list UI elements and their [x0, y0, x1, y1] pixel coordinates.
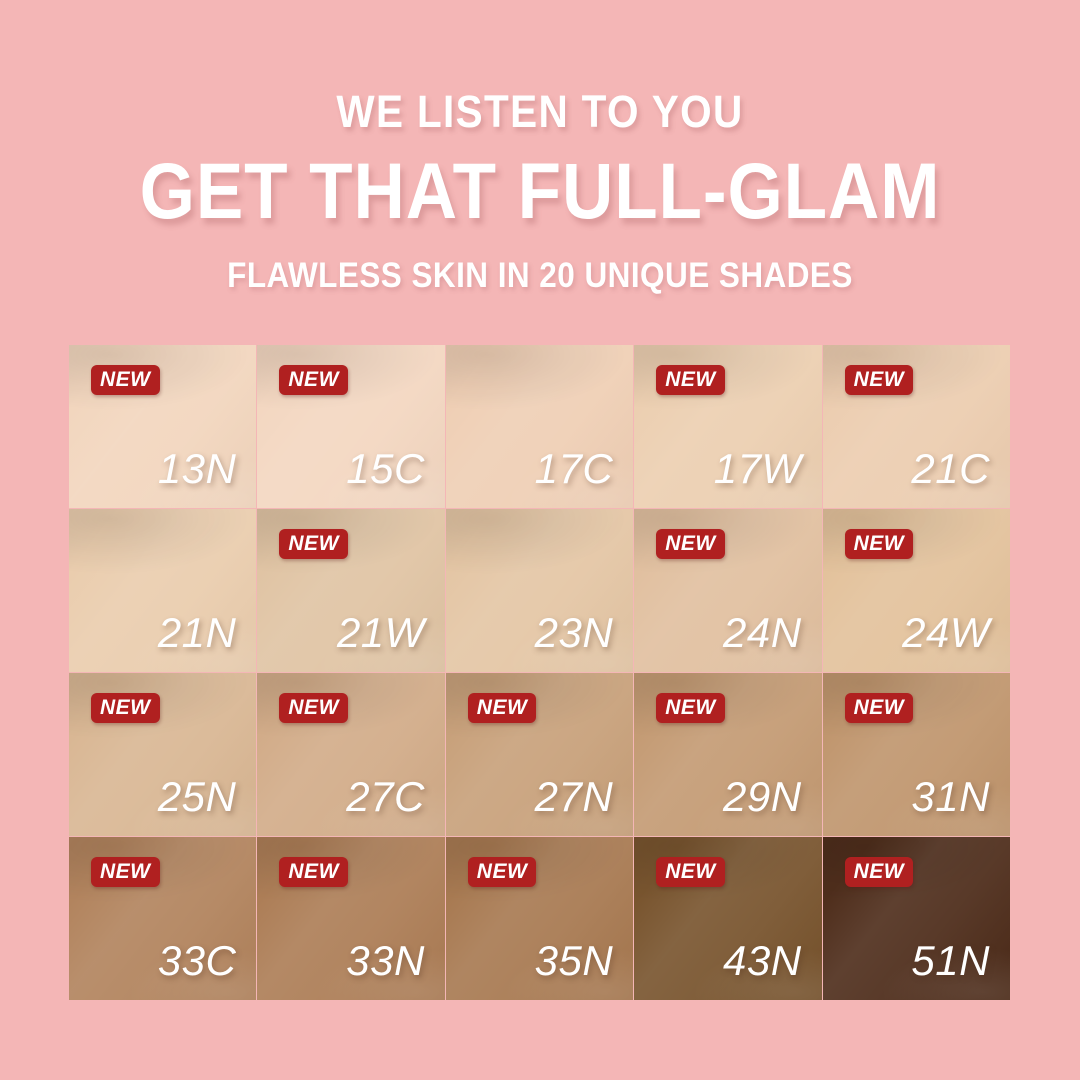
shade-swatch[interactable]: NEW21C — [823, 345, 1010, 508]
new-badge: NEW — [845, 857, 914, 887]
shade-swatch[interactable]: NEW24W — [823, 509, 1010, 672]
new-badge: NEW — [91, 693, 160, 723]
headings-block: WE LISTEN TO YOU GET THAT FULL-GLAM FLAW… — [0, 88, 1080, 295]
new-badge: NEW — [279, 365, 348, 395]
shade-label: 24W — [902, 612, 990, 654]
shade-label: 31N — [911, 776, 990, 818]
shade-swatch[interactable]: NEW33C — [69, 837, 256, 1000]
shade-swatch[interactable]: NEW51N — [823, 837, 1010, 1000]
new-badge: NEW — [468, 857, 537, 887]
shade-label: 17W — [714, 448, 802, 490]
shade-label: 21C — [911, 448, 990, 490]
shade-grid: NEW13NNEW15C17CNEW17WNEW21C21NNEW21W23NN… — [69, 345, 1010, 1000]
shade-label: 51N — [911, 940, 990, 982]
new-badge: NEW — [91, 857, 160, 887]
shade-swatch[interactable]: 21N — [69, 509, 256, 672]
promo-page: WE LISTEN TO YOU GET THAT FULL-GLAM FLAW… — [0, 0, 1080, 1080]
new-badge: NEW — [468, 693, 537, 723]
shade-swatch[interactable]: 23N — [446, 509, 633, 672]
new-badge: NEW — [845, 693, 914, 723]
subheadline-text: FLAWLESS SKIN IN 20 UNIQUE SHADES — [54, 258, 1026, 295]
shade-swatch[interactable]: NEW33N — [257, 837, 444, 1000]
shade-label: 15C — [346, 448, 425, 490]
shade-swatch[interactable]: NEW13N — [69, 345, 256, 508]
new-badge: NEW — [845, 365, 914, 395]
shade-swatch[interactable]: NEW25N — [69, 673, 256, 836]
shade-swatch[interactable]: NEW15C — [257, 345, 444, 508]
new-badge: NEW — [656, 529, 725, 559]
shade-swatch[interactable]: NEW27C — [257, 673, 444, 836]
new-badge: NEW — [279, 857, 348, 887]
shade-swatch[interactable]: NEW27N — [446, 673, 633, 836]
shade-swatch[interactable]: NEW35N — [446, 837, 633, 1000]
shade-label: 27C — [346, 776, 425, 818]
shade-label: 25N — [158, 776, 237, 818]
shade-label: 43N — [723, 940, 802, 982]
shade-label: 23N — [535, 612, 614, 654]
shade-swatch[interactable]: NEW24N — [634, 509, 821, 672]
shade-label: 27N — [535, 776, 614, 818]
new-badge: NEW — [279, 529, 348, 559]
shade-swatch[interactable]: 17C — [446, 345, 633, 508]
shade-swatch[interactable]: NEW43N — [634, 837, 821, 1000]
shade-swatch[interactable]: NEW21W — [257, 509, 444, 672]
new-badge: NEW — [656, 693, 725, 723]
new-badge: NEW — [656, 365, 725, 395]
shade-label: 17C — [535, 448, 614, 490]
shade-label: 33N — [346, 940, 425, 982]
new-badge: NEW — [91, 365, 160, 395]
shade-swatch[interactable]: NEW29N — [634, 673, 821, 836]
shade-label: 24N — [723, 612, 802, 654]
shade-swatch[interactable]: NEW31N — [823, 673, 1010, 836]
eyebrow-text: WE LISTEN TO YOU — [54, 88, 1026, 135]
page-title: GET THAT FULL-GLAM — [54, 151, 1026, 232]
shade-label: 13N — [158, 448, 237, 490]
shade-label: 21N — [158, 612, 237, 654]
new-badge: NEW — [845, 529, 914, 559]
new-badge: NEW — [656, 857, 725, 887]
shade-label: 21W — [337, 612, 425, 654]
shade-label: 33C — [158, 940, 237, 982]
shade-label: 29N — [723, 776, 802, 818]
shade-swatch[interactable]: NEW17W — [634, 345, 821, 508]
new-badge: NEW — [279, 693, 348, 723]
shade-label: 35N — [535, 940, 614, 982]
